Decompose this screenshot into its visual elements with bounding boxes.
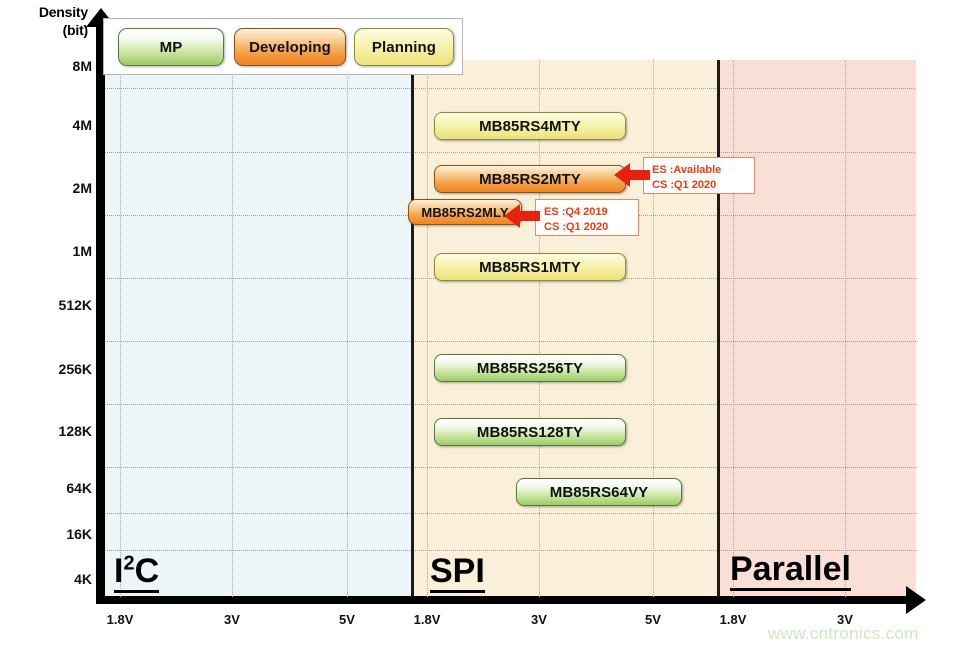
legend-item-planning[interactable]: Planning bbox=[354, 28, 454, 66]
gridline-v bbox=[232, 60, 233, 597]
y-tick-4k: 4K bbox=[8, 571, 92, 587]
region-parallel bbox=[718, 60, 916, 597]
y-tick-2m: 2M bbox=[8, 180, 92, 196]
product-box-mb85rs4mty[interactable]: MB85RS4MTY bbox=[434, 112, 626, 140]
y-tick-256k: 256K bbox=[8, 361, 92, 377]
arrow-head bbox=[614, 163, 630, 187]
y-tick-128k: 128K bbox=[8, 423, 92, 439]
gridline-v bbox=[845, 60, 846, 597]
gridline-h bbox=[105, 88, 916, 89]
x-tick-spi-3v: 3V bbox=[531, 612, 547, 627]
legend: MP Developing Planning bbox=[103, 18, 463, 75]
x-tick-i2c-1v8: 1.8V bbox=[107, 612, 134, 627]
x-tick-spi-1v8: 1.8V bbox=[414, 612, 441, 627]
product-box-mb85rs2mty[interactable]: MB85RS2MTY bbox=[434, 165, 626, 193]
gridline-v bbox=[347, 60, 348, 597]
callout-2-es: ES :Q4 2019 bbox=[544, 205, 630, 220]
x-axis-line bbox=[96, 596, 916, 604]
callout-mb85rs2mly: ES :Q4 2019 CS :Q1 2020 bbox=[535, 199, 639, 236]
gridline-h bbox=[105, 513, 916, 514]
region-spi bbox=[412, 60, 718, 597]
region-i2c bbox=[105, 60, 412, 597]
product-box-mb85rs128ty[interactable]: MB85RS128TY bbox=[434, 418, 626, 446]
y-tick-1m: 1M bbox=[8, 243, 92, 259]
gridline-h bbox=[105, 404, 916, 405]
y-axis-tick-labels: 8M 4M 2M 1M 512K 256K 128K 64K 16K 4K bbox=[0, 0, 92, 648]
gridline-h bbox=[105, 467, 916, 468]
product-box-mb85rs64vy[interactable]: MB85RS64VY bbox=[516, 478, 682, 506]
callout-1-es: ES :Available bbox=[652, 163, 746, 178]
watermark: www.cntronics.com bbox=[768, 624, 919, 644]
region-label-i2c: I2C bbox=[114, 554, 159, 593]
callout-1-cs: CS :Q1 2020 bbox=[652, 178, 746, 193]
region-label-parallel: Parallel bbox=[730, 552, 851, 591]
callout-mb85rs2mty: ES :Available CS :Q1 2020 bbox=[643, 157, 755, 194]
x-tick-par-1v8: 1.8V bbox=[720, 612, 747, 627]
y-axis-line bbox=[96, 22, 105, 604]
region-label-spi: SPI bbox=[430, 554, 485, 593]
legend-item-developing[interactable]: Developing bbox=[234, 28, 346, 66]
callout-2-cs: CS :Q1 2020 bbox=[544, 220, 630, 235]
region-label-i2c-c: C bbox=[135, 552, 160, 590]
arrow-shaft bbox=[628, 170, 650, 180]
chart-canvas: Density (bit) 8M 4M 2M 1M 512K 256K 128K… bbox=[0, 0, 964, 648]
region-label-i2c-sup: 2 bbox=[123, 553, 134, 575]
legend-item-mp[interactable]: MP bbox=[118, 28, 224, 66]
arrow-shaft bbox=[518, 211, 540, 221]
product-box-mb85rs1mty[interactable]: MB85RS1MTY bbox=[434, 253, 626, 281]
divider-spi-parallel bbox=[717, 60, 720, 597]
divider-i2c-spi bbox=[411, 60, 414, 597]
plot-area bbox=[105, 60, 916, 597]
callout-arrow-icon-1 bbox=[614, 163, 650, 187]
y-tick-16k: 16K bbox=[8, 526, 92, 542]
gridline-v bbox=[653, 60, 654, 597]
x-axis-arrow-icon bbox=[906, 586, 926, 614]
y-tick-8m: 8M bbox=[8, 58, 92, 74]
y-tick-64k: 64K bbox=[8, 480, 92, 496]
arrow-head bbox=[504, 204, 520, 228]
gridline-v bbox=[427, 60, 428, 597]
x-tick-i2c-3v: 3V bbox=[224, 612, 240, 627]
y-tick-4m: 4M bbox=[8, 117, 92, 133]
y-tick-512k: 512K bbox=[8, 297, 92, 313]
x-tick-spi-5v: 5V bbox=[645, 612, 661, 627]
gridline-v bbox=[733, 60, 734, 597]
callout-arrow-icon-2 bbox=[504, 204, 540, 228]
gridline-v bbox=[539, 60, 540, 597]
product-box-mb85rs256ty[interactable]: MB85RS256TY bbox=[434, 354, 626, 382]
gridline-h bbox=[105, 152, 916, 153]
gridline-v bbox=[120, 60, 121, 597]
gridline-h bbox=[105, 341, 916, 342]
x-tick-i2c-5v: 5V bbox=[339, 612, 355, 627]
